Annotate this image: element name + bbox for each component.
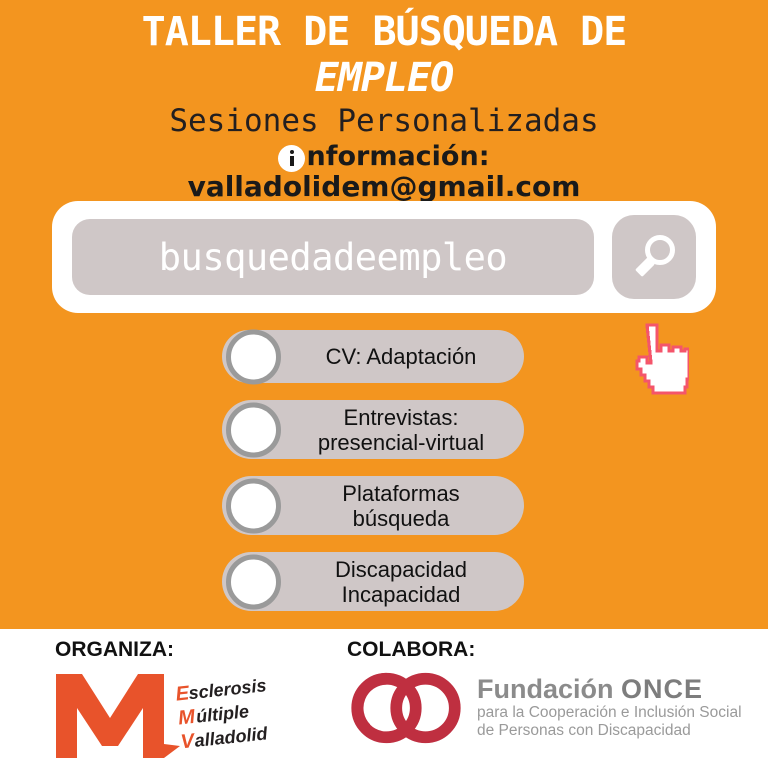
pointing-hand-cursor-icon <box>627 323 689 395</box>
option-row-entrevistas[interactable]: Entrevistas: presencial-virtual <box>222 400 524 459</box>
info-circle-icon <box>278 145 305 172</box>
option-label: Entrevistas: presencial-virtual <box>290 405 512 455</box>
radio-button-icon[interactable] <box>226 478 281 533</box>
fundacion-once-logo: Fundación ONCE para la Cooperación e Inc… <box>347 668 768 753</box>
option-row-cv-adaptacion[interactable]: CV: Adaptación <box>222 330 524 383</box>
option-row-discapacidad[interactable]: Discapacidad Incapacidad <box>222 552 524 611</box>
contact-email: valladolidem@gmail.com <box>0 171 768 203</box>
once-rings-icon <box>347 668 465 753</box>
once-title-part2: ONCE <box>621 674 703 704</box>
once-title: Fundación ONCE <box>477 674 742 704</box>
option-label: Plataformas búsqueda <box>290 481 512 531</box>
search-input[interactable]: busquedadeempleo <box>72 219 594 295</box>
footer-organiza: ORGANIZA: E sclerosis M últiple V allado… <box>0 629 340 761</box>
option-row-plataformas[interactable]: Plataformas búsqueda <box>222 476 524 535</box>
once-sub-line2: de Personas con Discapacidad <box>477 722 742 740</box>
radio-button-icon[interactable] <box>226 554 281 609</box>
svg-text:M: M <box>177 706 197 730</box>
once-text-block: Fundación ONCE para la Cooperación e Inc… <box>477 668 742 740</box>
option-label: CV: Adaptación <box>290 344 512 369</box>
option-label: Discapacidad Incapacidad <box>290 557 512 607</box>
radio-button-icon[interactable] <box>226 329 281 384</box>
options-list: CV: Adaptación Entrevistas: presencial-v… <box>222 330 524 628</box>
page-title-emphasis: EMPLEO <box>0 56 768 100</box>
svg-text:sclerosis: sclerosis <box>188 675 268 703</box>
page-subtitle: Sesiones Personalizadas <box>0 103 768 139</box>
once-sub-line1: para la Cooperación e Inclusión Social <box>477 704 742 722</box>
svg-text:últiple: últiple <box>195 701 250 726</box>
once-title-part1: Fundación <box>477 674 621 704</box>
organiza-heading: ORGANIZA: <box>55 638 340 662</box>
poster-root: TALLER DE BÚSQUEDA DE EMPLEO Sesiones Pe… <box>0 0 768 768</box>
search-button[interactable] <box>612 215 696 299</box>
search-bar: busquedadeempleo <box>52 201 716 313</box>
magnifier-icon <box>629 232 679 282</box>
info-line: nformación: <box>0 141 768 173</box>
poster-footer: ORGANIZA: E sclerosis M últiple V allado… <box>0 629 768 768</box>
page-title: TALLER DE BÚSQUEDA DE <box>0 10 768 54</box>
search-input-value: busquedadeempleo <box>159 236 507 279</box>
footer-colabora: COLABORA: Fundación ONCE para la Coopera… <box>340 629 768 753</box>
info-label: nformación: <box>306 141 489 173</box>
radio-button-icon[interactable] <box>226 402 281 457</box>
svg-text:alladolid: alladolid <box>194 723 270 751</box>
colabora-heading: COLABORA: <box>347 638 768 662</box>
em-valladolid-logo: E sclerosis M últiple V alladolid <box>48 666 298 761</box>
poster-header: TALLER DE BÚSQUEDA DE EMPLEO Sesiones Pe… <box>0 0 768 203</box>
